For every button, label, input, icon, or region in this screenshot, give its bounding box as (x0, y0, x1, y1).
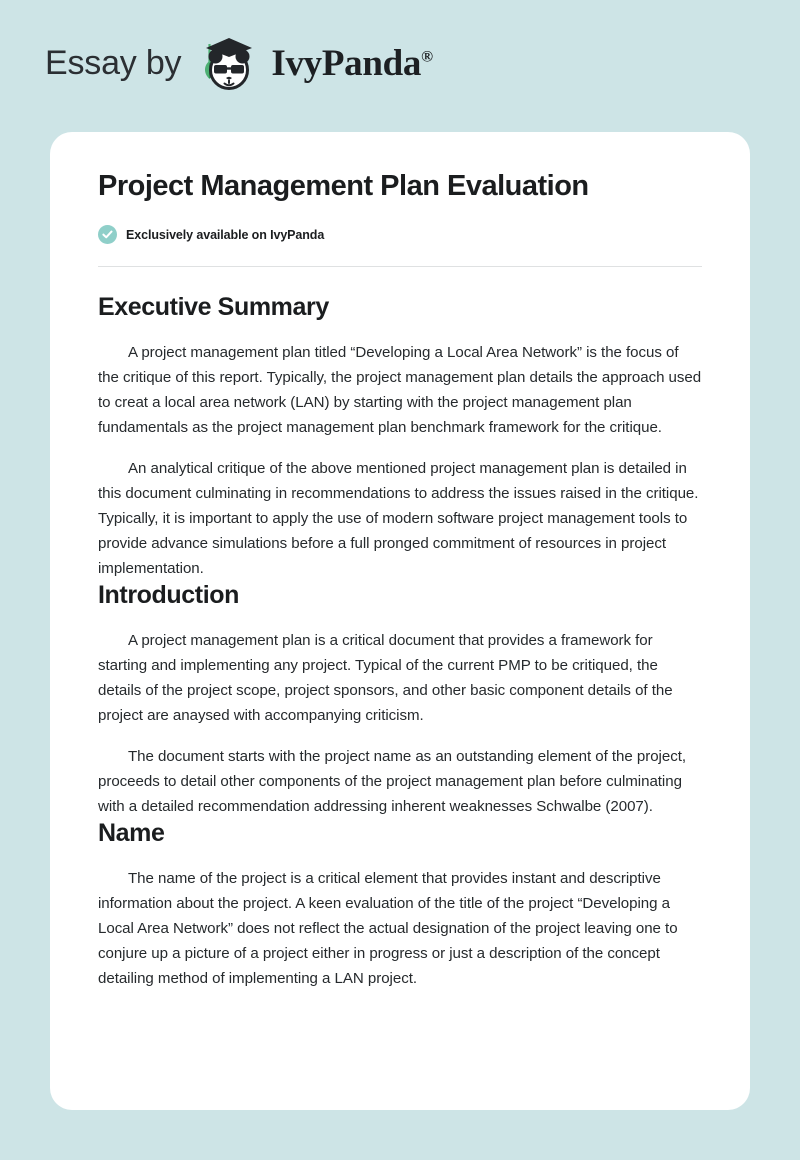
section-heading: Introduction (98, 581, 702, 610)
wordmark-text: IvyPanda (271, 43, 421, 84)
exclusivity-badge-label: Exclusively available on IvyPanda (126, 228, 324, 242)
exclusivity-badge: Exclusively available on IvyPanda (98, 225, 702, 244)
section-heading: Executive Summary (98, 293, 702, 322)
registered-trademark-symbol: ® (421, 48, 433, 65)
title-divider (98, 266, 702, 267)
section-heading: Name (98, 819, 702, 848)
paragraph: The name of the project is a critical el… (98, 866, 702, 991)
paragraph: A project management plan is a critical … (98, 628, 702, 728)
essay-by-label: Essay by (45, 46, 181, 80)
page-title: Project Management Plan Evaluation (98, 170, 702, 203)
brand-logo-lockup[interactable]: Essay by (45, 32, 433, 94)
panda-graduate-logo-icon (195, 32, 259, 94)
brand-header: Essay by (0, 0, 800, 132)
section-name: Name The name of the project is a critic… (98, 819, 702, 991)
section-executive-summary: Executive Summary A project management p… (98, 293, 702, 581)
section-introduction: Introduction A project management plan i… (98, 581, 702, 819)
paragraph: An analytical critique of the above ment… (98, 456, 702, 581)
essay-paper-card: Project Management Plan Evaluation Exclu… (50, 132, 750, 1110)
paragraph: The document starts with the project nam… (98, 744, 702, 819)
paragraph: A project management plan titled “Develo… (98, 340, 702, 440)
check-circle-icon (98, 225, 117, 244)
ivypanda-wordmark: IvyPanda® (271, 45, 432, 82)
